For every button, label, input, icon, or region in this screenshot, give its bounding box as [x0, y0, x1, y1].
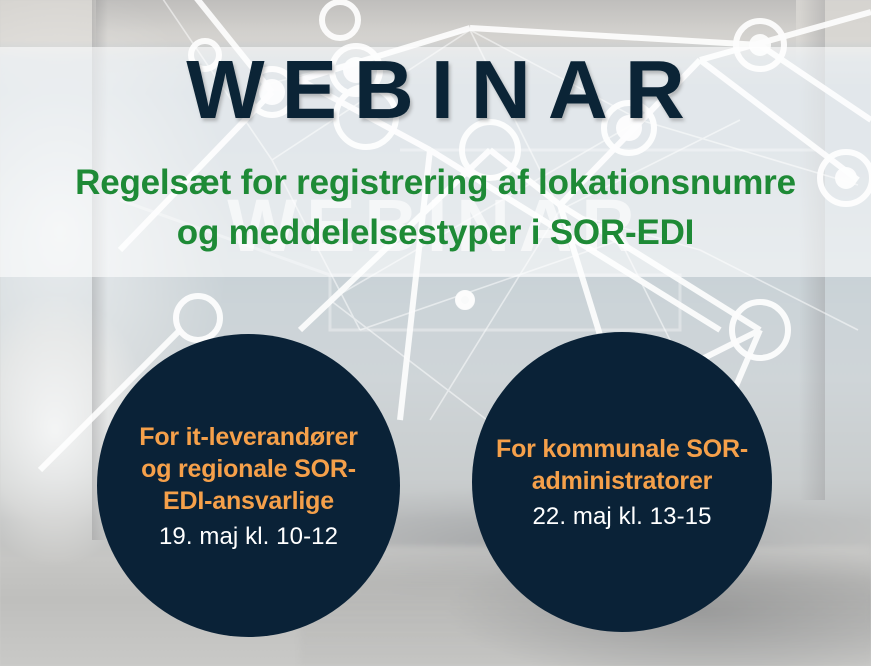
session-datetime: 19. maj kl. 10-12 [159, 523, 338, 551]
page-subtitle: Regelsæt for registrering af lokationsnu… [18, 158, 853, 257]
session-circle-kommunale-sor-administratorer: For kommunale SOR- administratorer 22. m… [472, 332, 772, 632]
session-datetime: 22. maj kl. 13-15 [532, 503, 711, 531]
page-title: WEBINAR [0, 48, 871, 133]
session-audience-line-3: EDI-ansvarlige [139, 485, 357, 517]
webinar-poster: WEBINAR [0, 0, 871, 666]
session-audience: For kommunale SOR- administratorer [496, 433, 748, 497]
session-audience-line-2: administratorer [496, 465, 748, 497]
session-audience: For it-leverandører og regionale SOR- ED… [139, 421, 357, 517]
session-audience-line-1: For it-leverandører [139, 421, 357, 453]
session-audience-line-1: For kommunale SOR- [496, 433, 748, 465]
subtitle-line-1: Regelsæt for registrering af lokationsnu… [18, 158, 853, 208]
session-circle-it-leverandorer: For it-leverandører og regionale SOR- ED… [97, 334, 400, 637]
subtitle-line-2: og meddelelsestyper i SOR-EDI [18, 208, 853, 258]
session-audience-line-2: og regionale SOR- [139, 453, 357, 485]
